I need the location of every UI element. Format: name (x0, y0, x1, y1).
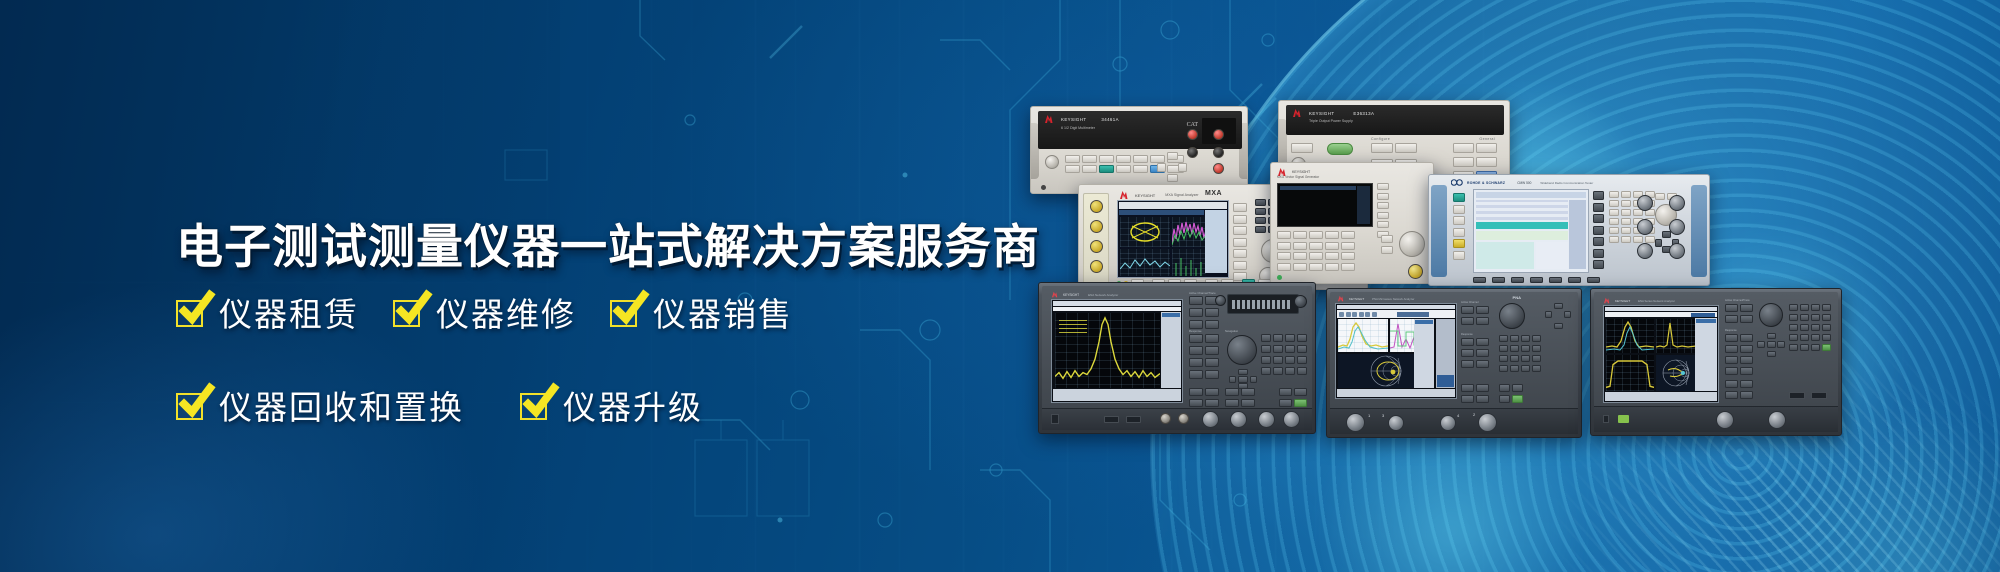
model-subtitle: Triple Output Power Supply (1309, 119, 1353, 123)
feature-item-instrument-recycle-exchange[interactable]: 仪器回收和置换 (176, 381, 464, 429)
instrument-network-analyzer-mid: KEYSIGHT PNA Microwave Network Analyzer … (1326, 288, 1582, 438)
model-text: CMW 500 (1517, 181, 1531, 185)
keysight-logo-icon (1337, 295, 1346, 302)
brand-text: ROHDE & SCHWARZ (1467, 181, 1505, 185)
model-text: 34461A (1101, 117, 1119, 122)
feature-label: 仪器维修 (436, 288, 576, 336)
brand-text: KEYSIGHT (1309, 111, 1334, 116)
feature-label: 仪器升级 (563, 381, 703, 429)
feature-item-instrument-repair[interactable]: 仪器维修 (393, 288, 576, 336)
instrument-digital-multimeter: KEYSIGHT 34461A 6 1/2 Digit Multimeter C… (1030, 106, 1248, 194)
keysight-logo-icon (1051, 291, 1060, 298)
model-subtitle: ENA Series Network Analyzer (1638, 299, 1675, 303)
instrument-network-analyzer-right: KEYSIGHT ENA Series Network Analyzer (1590, 288, 1842, 436)
feature-row-1: 仪器租赁 仪器维修 仪器销售 (176, 288, 793, 336)
brand-text: KEYSIGHT (1615, 299, 1630, 303)
feature-label: 仪器销售 (653, 288, 793, 336)
rohde-schwarz-logo-icon (1451, 178, 1463, 187)
keysight-logo-icon (1044, 114, 1056, 124)
page-title: 电子测试测量仪器一站式解决方案服务商 (176, 208, 1040, 277)
feature-item-instrument-rental[interactable]: 仪器租赁 (176, 288, 359, 336)
brand-text: KEYSIGHT (1061, 117, 1086, 122)
feature-row-2: 仪器回收和置换 仪器升级 (176, 381, 793, 429)
feature-label: 仪器回收和置换 (219, 381, 464, 429)
feature-item-instrument-sales[interactable]: 仪器销售 (610, 288, 793, 336)
model-subtitle: 6 1/2 Digit Multimeter (1061, 126, 1095, 130)
checkbox-check-icon (610, 297, 640, 327)
checkbox-check-icon (393, 297, 423, 327)
keysight-logo-icon (1603, 297, 1612, 304)
instrument-photo-stack: KEYSIGHT 34461A 6 1/2 Digit Multimeter C… (1030, 96, 2000, 516)
model-subtitle: Wideband Radio Communication Tester (1540, 181, 1593, 185)
mxa-badge: MXA (1205, 190, 1222, 197)
model-subtitle: MXA Signal Analyzer (1165, 193, 1198, 197)
model-text: E36313A (1353, 111, 1374, 116)
keysight-logo-icon (1119, 190, 1131, 200)
brand-text: KEYSIGHT (1349, 297, 1364, 301)
brand-text: KEYSIGHT (1292, 170, 1310, 174)
feature-label: 仪器租赁 (219, 288, 359, 336)
brand-text: KEYSIGHT (1135, 193, 1155, 198)
instrument-signal-generator: KEYSIGHT MXG Vector Signal Generator (1270, 162, 1434, 284)
checkbox-check-icon (176, 390, 206, 420)
checkbox-check-icon (520, 390, 550, 420)
checkbox-check-icon (176, 297, 206, 327)
model-subtitle: MXG Vector Signal Generator (1277, 175, 1319, 179)
feature-item-instrument-upgrade[interactable]: 仪器升级 (520, 381, 703, 429)
brand-text: KEYSIGHT (1063, 293, 1079, 297)
keysight-logo-icon (1292, 108, 1304, 118)
model-subtitle: ENA Network Analyzer (1088, 293, 1118, 297)
pna-badge: PNA (1513, 295, 1521, 300)
instrument-network-analyzer-left: KEYSIGHT ENA Network Analyzer A (1038, 282, 1316, 434)
hero-banner: 电子测试测量仪器一站式解决方案服务商 仪器租赁 仪器维修 (0, 0, 2000, 572)
hero-copy-block: 电子测试测量仪器一站式解决方案服务商 仪器租赁 仪器维修 (0, 0, 1020, 572)
feature-list: 仪器租赁 仪器维修 仪器销售 (176, 288, 793, 429)
instrument-radio-comm-tester: ROHDE & SCHWARZ CMW 500 Wideband Radio C… (1428, 174, 1710, 286)
model-subtitle: PNA Microwave Network Analyzer (1372, 297, 1414, 301)
